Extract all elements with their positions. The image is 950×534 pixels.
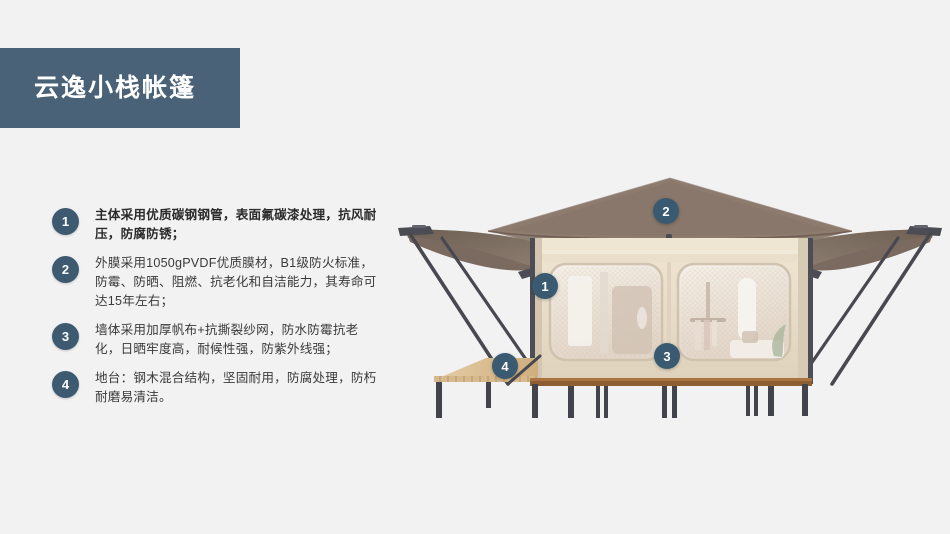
feature-description: 主体采用优质碳钢钢管，表面氟碳漆处理，抗风耐压，防腐防锈；: [95, 206, 382, 244]
slide-canvas: 云逸小栈帐篷 1 主体采用优质碳钢钢管，表面氟碳漆处理，抗风耐压，防腐防锈； 2…: [0, 0, 950, 534]
feature-description: 外膜采用1050gPVDF优质膜材，B1级防火标准，防霉、防晒、阻燃、抗老化和自…: [95, 254, 382, 311]
title-banner: 云逸小栈帐篷: [0, 48, 240, 128]
list-item: 2 外膜采用1050gPVDF优质膜材，B1级防火标准，防霉、防晒、阻燃、抗老化…: [52, 254, 382, 311]
page-title: 云逸小栈帐篷: [34, 76, 196, 101]
list-item: 4 地台：钢木混合结构，坚固耐用，防腐处理，防朽耐磨易清洁。: [52, 369, 382, 407]
feature-description: 地台：钢木混合结构，坚固耐用，防腐处理，防朽耐磨易清洁。: [95, 369, 382, 407]
feature-number-badge: 1: [52, 208, 79, 235]
callout-badge-1[interactable]: 1: [532, 273, 558, 299]
feature-number-badge: 4: [52, 371, 79, 398]
callout-badge-2[interactable]: 2: [653, 198, 679, 224]
list-item: 3 墙体采用加厚帆布+抗撕裂纱网，防水防霉抗老化，日晒牢度高，耐候性强，防紫外线…: [52, 321, 382, 359]
feature-list: 1 主体采用优质碳钢钢管，表面氟碳漆处理，抗风耐压，防腐防锈； 2 外膜采用10…: [52, 206, 382, 417]
list-item: 1 主体采用优质碳钢钢管，表面氟碳漆处理，抗风耐压，防腐防锈；: [52, 206, 382, 244]
feature-number-badge: 3: [52, 323, 79, 350]
feature-number-badge: 2: [52, 256, 79, 283]
callout-badge-4[interactable]: 4: [492, 353, 518, 379]
feature-description: 墙体采用加厚帆布+抗撕裂纱网，防水防霉抗老化，日晒牢度高，耐候性强，防紫外线强；: [95, 321, 382, 359]
callout-badge-3[interactable]: 3: [654, 343, 680, 369]
